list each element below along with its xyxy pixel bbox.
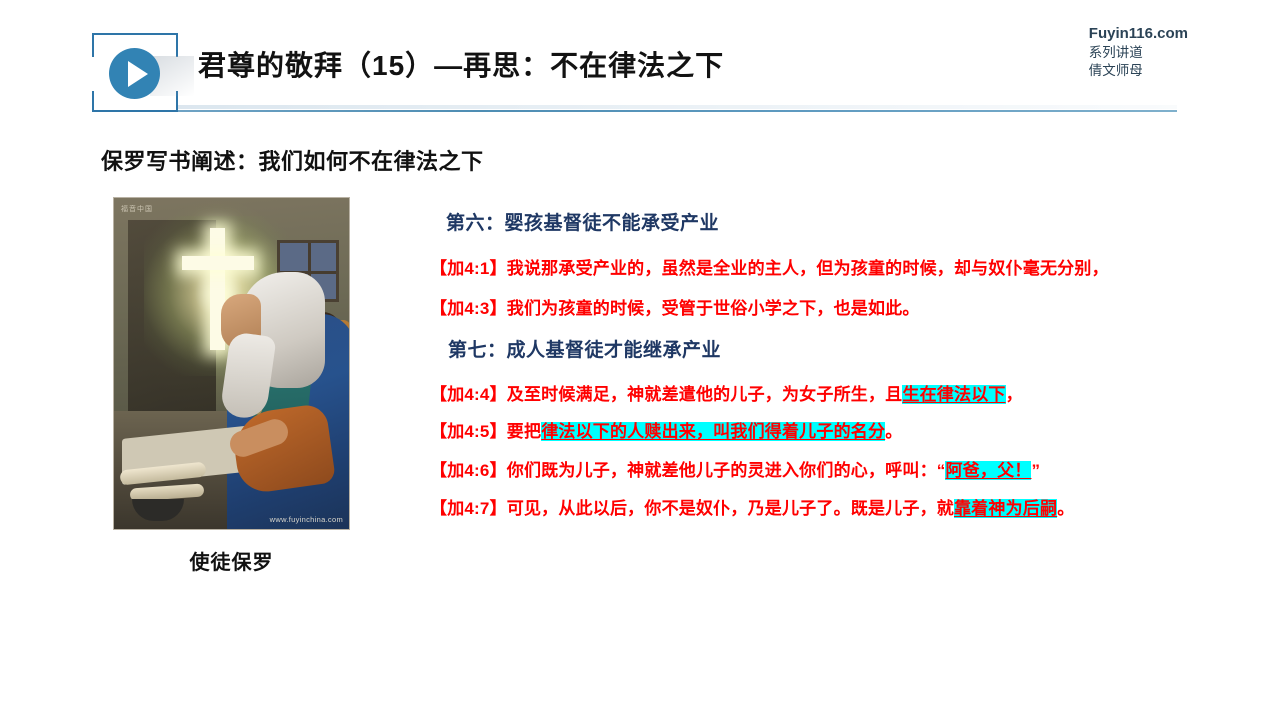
brand-speaker: 倩文师母 bbox=[1089, 62, 1188, 80]
glowing-cross-crossbar bbox=[182, 256, 254, 270]
section-heading-6: 第六：婴孩基督徒不能承受产业 bbox=[446, 208, 1230, 235]
verse-text: 我说那承受产业的，虽然是全业的主人，但为孩童的时候，却与奴仆毫无分别， bbox=[507, 259, 1109, 278]
verse-gal-4-1: 【加4:1】我说那承受产业的，虽然是全业的主人，但为孩童的时候，却与奴仆毫无分别… bbox=[430, 257, 1130, 281]
verse-text: 我们为孩童的时候，受管于世俗小学之下，也是如此。 bbox=[507, 299, 920, 318]
verse-gal-4-7: 【加4:7】可见，从此以后，你不是奴仆，乃是儿子了。既是儿子，就靠着神为后嗣。 bbox=[430, 497, 1230, 521]
verse-ref: 【加4:6】 bbox=[430, 461, 507, 480]
frame-notch-left bbox=[92, 57, 98, 91]
verse-text: 可见，从此以后，你不是奴仆，乃是儿子了。既是儿子，就 bbox=[507, 499, 954, 518]
section-heading-7: 第七：成人基督徒才能继承产业 bbox=[448, 335, 1230, 362]
verse-gal-4-5: 【加4:5】要把律法以下的人赎出来，叫我们得着儿子的名分。 bbox=[430, 420, 1230, 444]
watermark-top-left: 福音中国 bbox=[121, 204, 153, 214]
brand-site: Fuyin116.com bbox=[1089, 24, 1188, 44]
verse-text: 要把 bbox=[507, 422, 541, 441]
verse-ref: 【加4:1】 bbox=[430, 259, 507, 278]
verse-gal-4-6: 【加4:6】你们既为儿子，神就差他儿子的灵进入你们的心，呼叫：“阿爸，父！” bbox=[430, 459, 1230, 483]
verse-highlight: 靠着神为后嗣 bbox=[954, 499, 1057, 518]
verse-text-tail: 。 bbox=[885, 422, 902, 441]
verse-ref: 【加4:7】 bbox=[430, 499, 507, 518]
header-rule bbox=[178, 110, 1177, 112]
verse-gal-4-3: 【加4:3】我们为孩童的时候，受管于世俗小学之下，也是如此。 bbox=[430, 297, 1230, 321]
verse-text: 及至时候满足，神就差遣他的儿子，为女子所生，且 bbox=[507, 385, 903, 404]
brand-series: 系列讲道 bbox=[1089, 44, 1188, 62]
verse-highlight: 律法以下的人赎出来，叫我们得着儿子的名分 bbox=[541, 422, 885, 441]
verse-text-tail: ， bbox=[1006, 385, 1023, 404]
slide-header: 君尊的敬拜（15）—再思：不在律法之下 Fuyin116.com 系列讲道 倩文… bbox=[0, 0, 1280, 125]
verse-ref: 【加4:3】 bbox=[430, 299, 507, 318]
watermark-bottom-right: www.fuyinchina.com bbox=[270, 515, 343, 524]
verse-ref: 【加4:5】 bbox=[430, 422, 507, 441]
verse-gal-4-4: 【加4:4】及至时候满足，神就差遣他的儿子，为女子所生，且生在律法以下， bbox=[430, 383, 1230, 407]
verse-text-tail: ” bbox=[1031, 461, 1040, 480]
slide-subtitle: 保罗写书阐述：我们如何不在律法之下 bbox=[101, 144, 484, 176]
paul-painting-image: 福音中国 www.fuyinchina.com bbox=[113, 197, 350, 530]
scripture-content: 第六：婴孩基督徒不能承受产业 【加4:1】我说那承受产业的，虽然是全业的主人，但… bbox=[430, 200, 1230, 521]
play-button-icon[interactable] bbox=[109, 48, 160, 99]
play-triangle-icon bbox=[128, 61, 148, 87]
verse-ref: 【加4:4】 bbox=[430, 385, 507, 404]
header-rule-soft bbox=[178, 105, 1177, 109]
verse-text: 你们既为儿子，神就差他儿子的灵进入你们的心，呼叫：“ bbox=[507, 461, 946, 480]
slide-title: 君尊的敬拜（15）—再思：不在律法之下 bbox=[198, 44, 724, 84]
verse-highlight: 生在律法以下 bbox=[902, 385, 1005, 404]
figure-caption: 使徒保罗 bbox=[113, 546, 350, 575]
figure-apostle-paul: 福音中国 www.fuyinchina.com 使徒保罗 bbox=[113, 197, 350, 575]
brand-block: Fuyin116.com 系列讲道 倩文师母 bbox=[1089, 24, 1188, 79]
verse-text-tail: 。 bbox=[1057, 499, 1074, 518]
verse-highlight: 阿爸，父！ bbox=[945, 461, 1031, 480]
